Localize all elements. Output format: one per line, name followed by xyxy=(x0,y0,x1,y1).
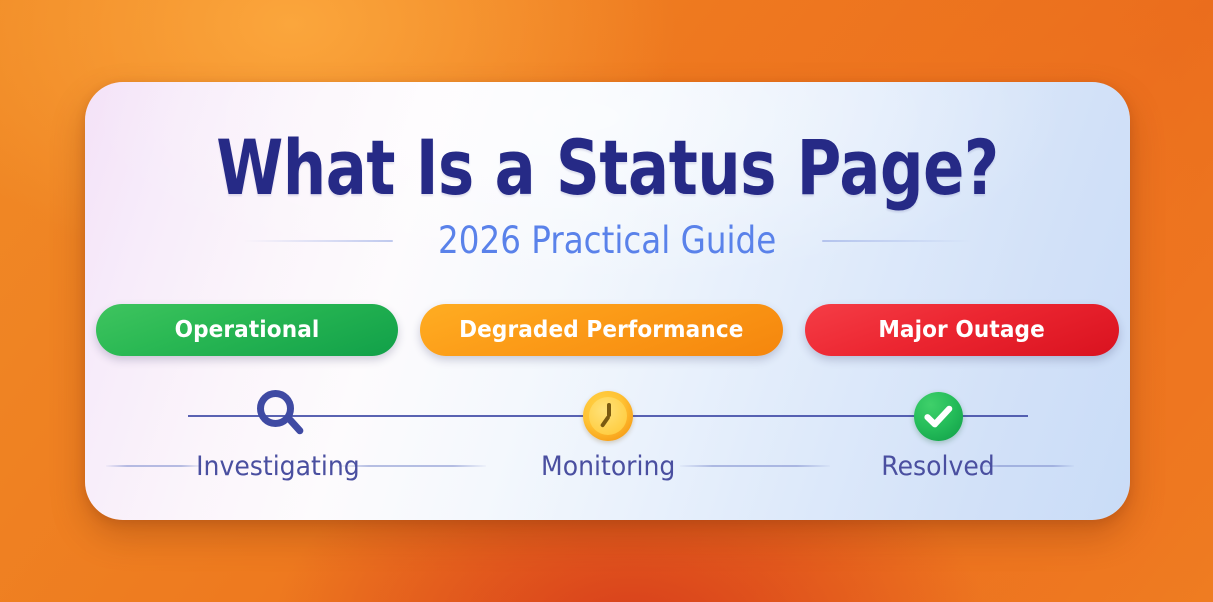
status-badge-major-outage[interactable]: Major Outage xyxy=(805,304,1119,356)
page-title: What Is a Status Page? xyxy=(190,130,1026,206)
timeline-step-label-monitoring: Monitoring xyxy=(541,451,675,482)
timeline-step-investigating[interactable]: Investigating xyxy=(188,387,368,482)
timeline-icon-slot xyxy=(914,387,963,445)
check-circle-icon xyxy=(914,392,963,441)
magnifying-glass-icon xyxy=(255,390,301,444)
subtitle-rule-left xyxy=(243,240,393,242)
incident-timeline: Investigating Monitoring xyxy=(188,387,1028,487)
status-badge-operational-label: Operational xyxy=(175,317,320,343)
timeline-step-monitoring[interactable]: Monitoring xyxy=(518,387,698,482)
status-badge-major-outage-label: Major Outage xyxy=(879,317,1046,343)
info-card: What Is a Status Page? 2026 Practical Gu… xyxy=(85,82,1130,520)
status-pill-row: Operational Degraded Performance Major O… xyxy=(85,304,1130,356)
page-subtitle: 2026 Practical Guide xyxy=(438,222,776,259)
status-badge-degraded-label: Degraded Performance xyxy=(459,317,743,343)
status-badge-operational[interactable]: Operational xyxy=(96,304,398,356)
screenshot-root: What Is a Status Page? 2026 Practical Gu… xyxy=(0,0,1213,602)
timeline-step-label-resolved: Resolved xyxy=(881,451,994,482)
timeline-step-resolved[interactable]: Resolved xyxy=(848,387,1028,482)
status-badge-degraded[interactable]: Degraded Performance xyxy=(420,304,783,356)
subtitle-rule-right xyxy=(822,240,972,242)
subtitle-row: 2026 Practical Guide xyxy=(85,222,1130,259)
timeline-step-label-investigating: Investigating xyxy=(196,451,360,482)
clock-icon xyxy=(583,391,633,441)
timeline-icon-slot xyxy=(255,387,301,445)
timeline-icon-slot xyxy=(583,387,633,445)
